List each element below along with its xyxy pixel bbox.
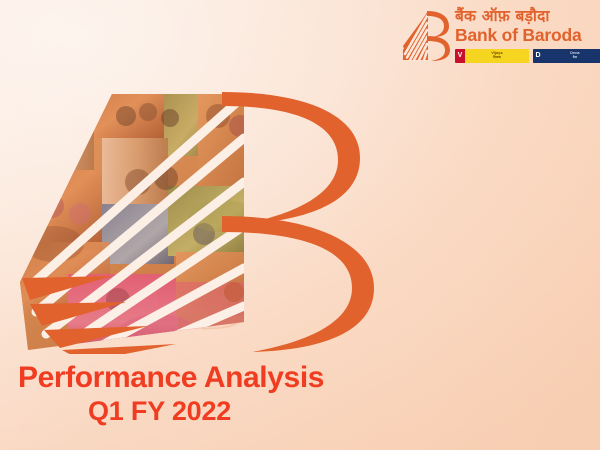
brand-name-hindi: बैंक ऑफ़ बड़ौदा bbox=[455, 8, 550, 25]
bank-of-baroda-logo: बैंक ऑफ़ बड़ौदा Bank of Baroda V Vijaya … bbox=[402, 6, 588, 84]
hero-b-logo bbox=[8, 86, 380, 354]
sub-brand-badge-vijaya: V Vijaya विजया bbox=[455, 49, 529, 63]
vijaya-label: Vijaya विजया bbox=[465, 52, 529, 59]
sub-brand-badges: V Vijaya विजया D Dena देना bbox=[455, 49, 600, 63]
slide-title-block: Performance Analysis Q1 FY 2022 bbox=[0, 362, 420, 426]
brand-name-english: Bank of Baroda bbox=[455, 26, 582, 45]
bank-of-baroda-b-mark-icon bbox=[402, 8, 450, 64]
page-title: Performance Analysis bbox=[0, 362, 420, 393]
dena-chip-icon: D bbox=[533, 49, 543, 63]
page-subtitle: Q1 FY 2022 bbox=[0, 397, 420, 426]
brand-wordmark: बैंक ऑफ़ बड़ौदा Bank of Baroda V Vijaya … bbox=[455, 6, 600, 63]
sub-brand-badge-dena: D Dena देना bbox=[533, 49, 600, 63]
presentation-title-slide: बैंक ऑफ़ बड़ौदा Bank of Baroda V Vijaya … bbox=[0, 0, 600, 450]
dena-label: Dena देना bbox=[543, 52, 600, 59]
vijaya-chip-icon: V bbox=[455, 49, 465, 63]
